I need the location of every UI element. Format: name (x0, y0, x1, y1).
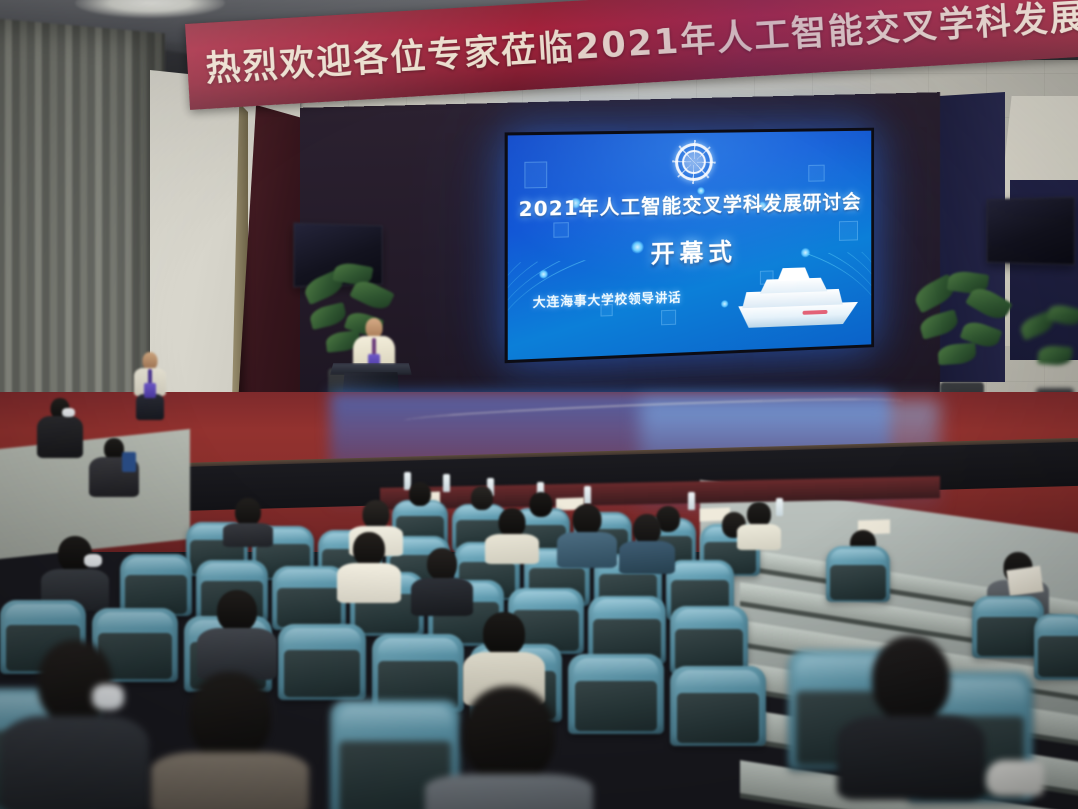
seat[interactable] (1034, 614, 1078, 680)
seat[interactable] (272, 566, 346, 630)
audience-member (618, 514, 676, 572)
audience-member (400, 482, 440, 516)
staff-member-standing (132, 352, 168, 418)
audience-member (222, 498, 274, 544)
audience-member (336, 532, 402, 600)
foreground-attendee (836, 636, 986, 796)
wall-monitor-right-icon (987, 197, 1075, 266)
led-projection-screen: 2021年人工智能交叉学科发展研讨会 开幕式 大连海事大学校领导讲话 (505, 128, 874, 364)
seated-attendee-left-ledge (36, 398, 84, 456)
phone-icon (122, 452, 136, 472)
audience-member (40, 536, 110, 608)
seat[interactable] (826, 546, 890, 602)
seat[interactable] (670, 666, 766, 746)
audience-member (410, 548, 474, 612)
university-emblem-icon (675, 143, 713, 182)
audience-member (556, 504, 618, 566)
auditorium-photo: 2021年人工智能交叉学科发展研讨会 开幕式 大连海事大学校领导讲话 (0, 0, 1078, 809)
foreground-attendee (424, 686, 594, 809)
seat[interactable] (120, 554, 192, 616)
seat[interactable] (670, 606, 748, 674)
foreground-shoe (986, 760, 1044, 796)
water-bottle (443, 474, 450, 492)
audience-member (736, 502, 782, 548)
audience-member (484, 508, 540, 562)
cruise-ship-graphic (731, 261, 858, 329)
seated-attendee-with-phone (88, 438, 140, 494)
foreground-attendee-masked (0, 640, 150, 809)
foreground-attendee (150, 672, 310, 809)
audience-member (196, 590, 278, 676)
document-page (1006, 566, 1043, 596)
water-bottle (584, 486, 591, 504)
